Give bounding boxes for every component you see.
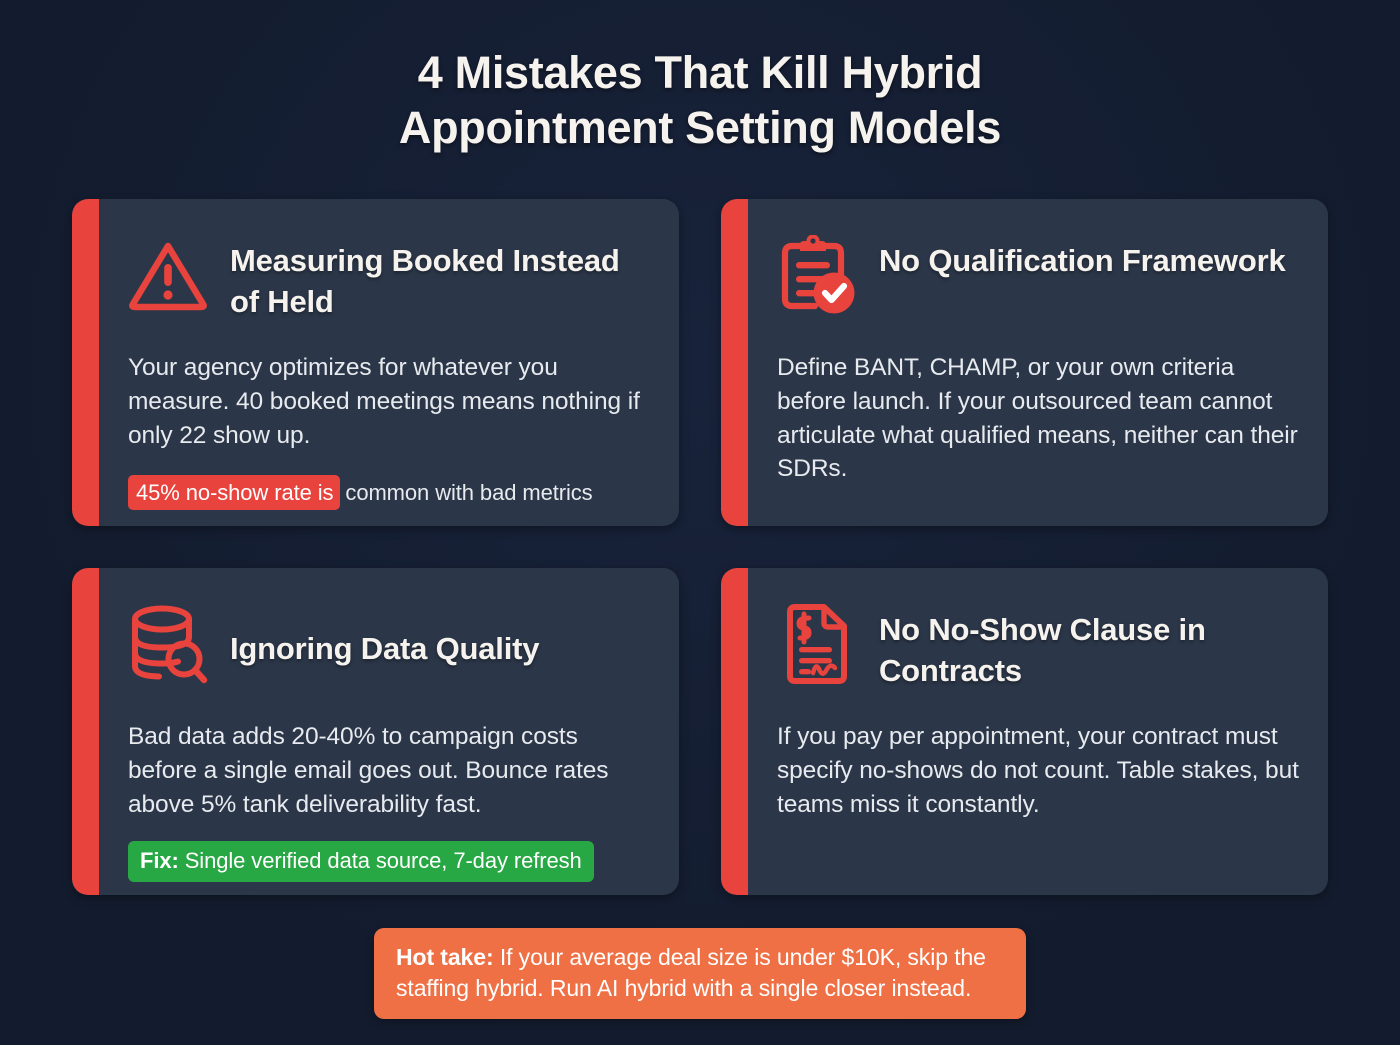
page-title: 4 Mistakes That Kill Hybrid Appointment … <box>0 0 1400 156</box>
hot-take-label: Hot take: <box>396 944 494 970</box>
mistake-card-2: No Qualification Framework Define BANT, … <box>721 199 1328 526</box>
warning-triangle-icon <box>128 233 208 315</box>
clipboard-check-icon <box>777 233 857 315</box>
contract-document-icon <box>777 602 857 684</box>
card-accent-bar <box>72 568 99 895</box>
badge-rest-text: common with bad metrics <box>340 480 592 505</box>
card-accent-bar <box>72 199 99 526</box>
database-search-icon <box>128 602 208 684</box>
mistake-card-3: Ignoring Data Quality Bad data adds 20-4… <box>72 568 679 895</box>
fix-badge: Fix: Single verified data source, 7-day … <box>128 841 594 882</box>
card-title: Ignoring Data Quality <box>230 602 539 669</box>
card-body-text: If you pay per appointment, your contrac… <box>777 720 1300 821</box>
card-body-text: Bad data adds 20-40% to campaign costs b… <box>128 720 651 821</box>
mistake-card-1: Measuring Booked Instead of Held Your ag… <box>72 199 679 526</box>
card-accent-bar <box>721 199 748 526</box>
status-badge: 45% no-show rate iscommon with bad metri… <box>128 475 593 510</box>
card-title: Measuring Booked Instead of Held <box>230 233 651 322</box>
mistake-card-4: No No-Show Clause in Contracts If you pa… <box>721 568 1328 895</box>
card-body-text: Define BANT, CHAMP, or your own criteria… <box>777 351 1300 486</box>
hot-take-banner: Hot take: If your average deal size is u… <box>374 928 1026 1019</box>
card-accent-bar <box>721 568 748 895</box>
infographic-poster: 4 Mistakes That Kill Hybrid Appointment … <box>0 0 1400 1045</box>
card-body-text: Your agency optimizes for whatever you m… <box>128 351 651 452</box>
badge-highlight-text: 45% no-show rate is <box>128 475 340 510</box>
card-title: No No-Show Clause in Contracts <box>879 602 1300 691</box>
card-title: No Qualification Framework <box>879 233 1286 281</box>
title-line-1: 4 Mistakes That Kill Hybrid <box>0 46 1400 101</box>
fix-badge-text: Single verified data source, 7-day refre… <box>185 848 582 873</box>
mistake-card-grid: Measuring Booked Instead of Held Your ag… <box>72 199 1328 895</box>
title-heading: 4 Mistakes That Kill Hybrid Appointment … <box>0 46 1400 156</box>
title-line-2: Appointment Setting Models <box>0 101 1400 156</box>
fix-badge-label: Fix: <box>140 848 179 873</box>
